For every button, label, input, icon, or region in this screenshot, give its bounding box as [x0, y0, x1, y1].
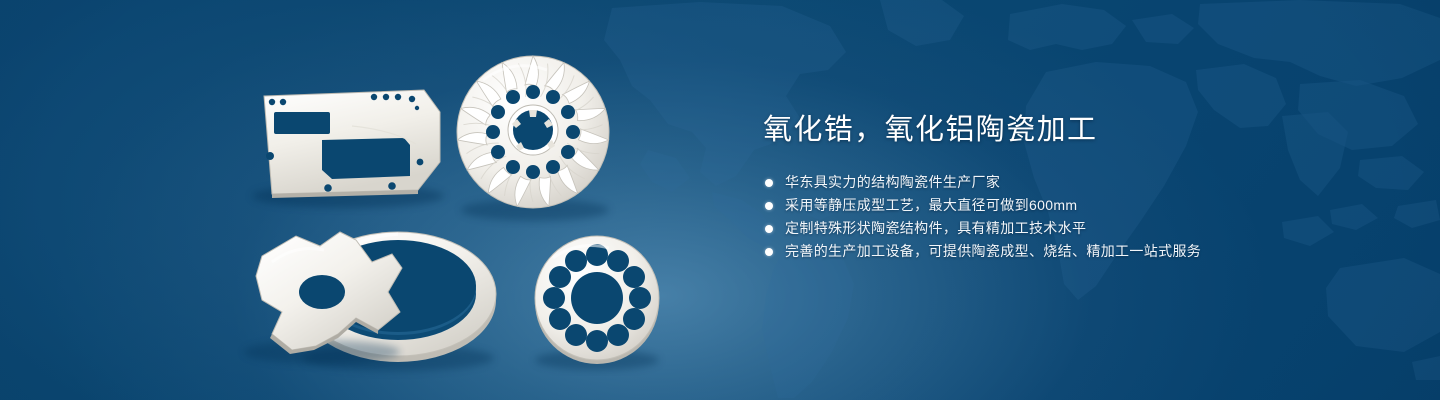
ceramic-impeller-disc — [457, 56, 610, 221]
product-photo-group — [0, 0, 740, 400]
list-item-label: 华东具实力的结构陶瓷件生产厂家 — [785, 174, 1000, 190]
list-item: 完善的生产加工设备，可提供陶瓷成型、烧结、精加工一站式服务 — [763, 240, 1363, 263]
bullet-dot-icon — [765, 248, 773, 256]
bullet-dot-icon — [765, 179, 773, 187]
hero-banner: 氧化锆，氧化铝陶瓷加工 华东具实力的结构陶瓷件生产厂家 采用等静压成型工艺，最大… — [0, 0, 1440, 400]
ceramic-machined-plate — [252, 90, 444, 208]
list-item: 华东具实力的结构陶瓷件生产厂家 — [763, 171, 1363, 194]
bullet-dot-icon — [765, 225, 773, 233]
list-item-label: 完善的生产加工设备，可提供陶瓷成型、烧结、精加工一站式服务 — [785, 243, 1201, 259]
list-item: 采用等静压成型工艺，最大直径可做到600mm — [763, 194, 1363, 217]
list-item: 定制特殊形状陶瓷结构件，具有精加工技术水平 — [763, 217, 1363, 240]
list-item-label: 定制特殊形状陶瓷结构件，具有精加工技术水平 — [785, 220, 1086, 236]
page-title: 氧化锆，氧化铝陶瓷加工 — [763, 112, 1363, 148]
list-item-label: 采用等静压成型工艺，最大直径可做到600mm — [785, 197, 1077, 213]
ceramic-perforated-disc — [535, 236, 659, 370]
bullet-dot-icon — [765, 202, 773, 210]
banner-copy: 氧化锆，氧化铝陶瓷加工 华东具实力的结构陶瓷件生产厂家 采用等静压成型工艺，最大… — [763, 112, 1363, 263]
feature-list: 华东具实力的结构陶瓷件生产厂家 采用等静压成型工艺，最大直径可做到600mm 定… — [763, 171, 1363, 263]
